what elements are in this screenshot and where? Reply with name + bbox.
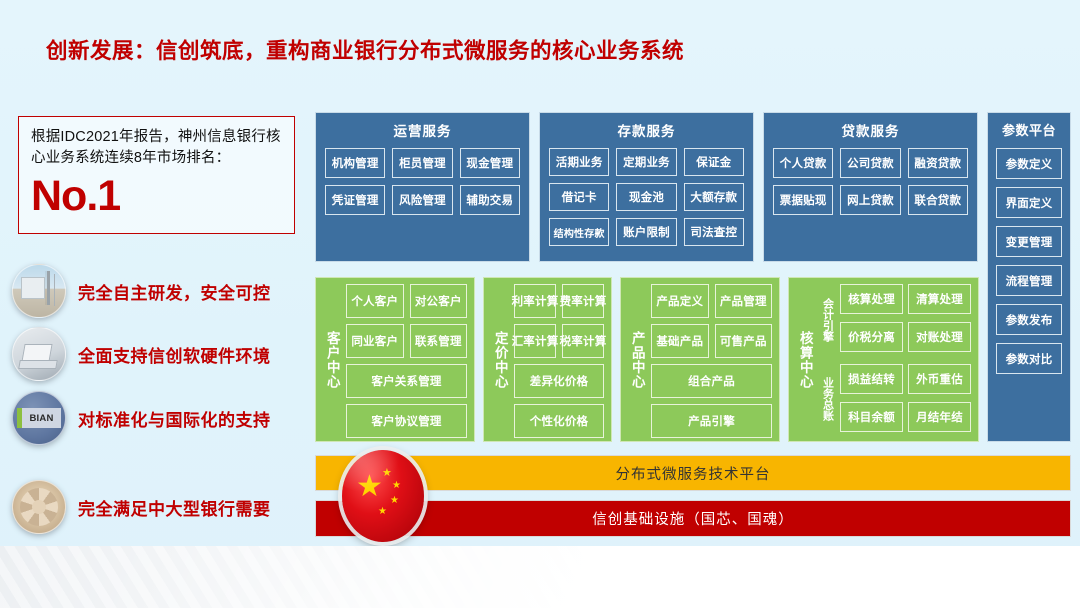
param-cell[interactable]: 参数发布 bbox=[996, 304, 1062, 335]
center-cell[interactable]: 产品定义 bbox=[651, 284, 709, 318]
accounting-groups: 会计引擎 核算处理 清算处理 价税分离 对账处理 业务总账 损益结转 外币重估 … bbox=[819, 284, 971, 435]
card-title: 存款服务 bbox=[549, 120, 744, 140]
accounting-cell[interactable]: 外币重估 bbox=[908, 364, 971, 394]
service-cell[interactable]: 大额存款 bbox=[684, 183, 744, 211]
card-title: 运营服务 bbox=[325, 120, 520, 140]
accounting-sub-label: 会计引擎 bbox=[819, 284, 835, 356]
card-cell-group: 参数定义 界面定义 变更管理 流程管理 参数发布 参数对比 bbox=[996, 148, 1062, 374]
highlight-item: 完全自主研发，安全可控 bbox=[12, 262, 302, 320]
center-cell[interactable]: 对公客户 bbox=[410, 284, 468, 318]
card-title: 贷款服务 bbox=[773, 120, 968, 140]
service-card-loans: 贷款服务 个人贷款 公司贷款 融资贷款 票据贴现 网上贷款 联合贷款 bbox=[763, 112, 978, 262]
slide-canvas: 创新发展：信创筑底，重构商业银行分布式微服务的核心业务系统 根据IDC2021年… bbox=[0, 0, 1080, 608]
service-cell[interactable]: 个人贷款 bbox=[773, 148, 833, 178]
flag-star-small: ★ bbox=[392, 480, 401, 491]
accounting-group: 会计引擎 核算处理 清算处理 价税分离 对账处理 bbox=[819, 284, 971, 356]
china-flag-emblem-icon: ★ ★ ★ ★ ★ bbox=[342, 450, 424, 542]
center-cell-wide[interactable]: 产品引擎 bbox=[651, 404, 772, 438]
service-cell[interactable]: 网上贷款 bbox=[840, 185, 900, 215]
accounting-group: 业务总账 损益结转 外币重估 科目余额 月结年结 bbox=[819, 364, 971, 436]
service-cell[interactable]: 结构性存款 bbox=[549, 218, 609, 246]
center-card-pricing: 定价中心 利率计算 费率计算 汇率计算 税率计算 差异化价格 个性化价格 bbox=[483, 277, 612, 442]
service-cell[interactable]: 票据贴现 bbox=[773, 185, 833, 215]
flag-star-small: ★ bbox=[390, 495, 399, 506]
center-label: 核算中心 bbox=[796, 284, 814, 435]
idc-ranking-text: 根据IDC2021年报告，神州信息银行核心业务系统连续8年市场排名： bbox=[31, 127, 282, 169]
center-cell-group: 个人客户 对公客户 同业客户 联系管理 客户关系管理 客户协议管理 bbox=[346, 284, 467, 435]
center-label: 定价中心 bbox=[491, 284, 509, 435]
service-cell[interactable]: 司法查控 bbox=[684, 218, 744, 246]
highlight-item: BIAN 对标准化与国际化的支持 bbox=[12, 389, 302, 447]
param-cell[interactable]: 参数定义 bbox=[996, 148, 1062, 179]
center-cell[interactable]: 汇率计算 bbox=[514, 324, 556, 358]
service-cell[interactable]: 凭证管理 bbox=[325, 185, 385, 215]
center-label: 产品中心 bbox=[628, 284, 646, 435]
service-cell[interactable]: 现金管理 bbox=[460, 148, 520, 178]
accounting-cell[interactable]: 对账处理 bbox=[908, 322, 971, 352]
center-cell[interactable]: 可售产品 bbox=[715, 324, 773, 358]
texture-shape-3 bbox=[810, 552, 1080, 598]
center-label: 客户中心 bbox=[323, 284, 341, 435]
param-cell[interactable]: 流程管理 bbox=[996, 265, 1062, 296]
center-cell-wide[interactable]: 个性化价格 bbox=[514, 404, 604, 438]
flag-star-small: ★ bbox=[378, 506, 387, 517]
accounting-cell-group: 核算处理 清算处理 价税分离 对账处理 bbox=[840, 284, 971, 356]
architecture-diagram: 运营服务 机构管理 柜员管理 现金管理 凭证管理 风险管理 辅助交易 存款服务 … bbox=[315, 112, 1071, 537]
center-card-accounting: 核算中心 会计引擎 核算处理 清算处理 价税分离 对账处理 业务总账 损益结转 … bbox=[788, 277, 979, 442]
dcits-logo: DCITS 神州信息 bbox=[966, 562, 1064, 596]
idc-rank-value: No.1 bbox=[31, 171, 282, 221]
texture-shape-1 bbox=[0, 546, 600, 589]
card-title: 参数平台 bbox=[996, 120, 1062, 139]
center-cell[interactable]: 联系管理 bbox=[410, 324, 468, 358]
center-cell-group: 利率计算 费率计算 汇率计算 税率计算 差异化价格 个性化价格 bbox=[514, 284, 604, 435]
service-card-deposits: 存款服务 活期业务 定期业务 保证金 借记卡 现金池 大额存款 结构性存款 账户… bbox=[539, 112, 754, 262]
center-cell[interactable]: 个人客户 bbox=[346, 284, 404, 318]
service-cell[interactable]: 柜员管理 bbox=[392, 148, 452, 178]
highlight-label: 完全自主研发，安全可控 bbox=[78, 279, 271, 304]
service-cell[interactable]: 定期业务 bbox=[616, 148, 676, 176]
card-cell-group: 机构管理 柜员管理 现金管理 凭证管理 风险管理 辅助交易 bbox=[325, 148, 520, 215]
dcits-logo-en: DCITS bbox=[1004, 562, 1064, 581]
service-card-operations: 运营服务 机构管理 柜员管理 现金管理 凭证管理 风险管理 辅助交易 bbox=[315, 112, 530, 262]
accounting-cell[interactable]: 核算处理 bbox=[840, 284, 903, 314]
service-cell[interactable]: 辅助交易 bbox=[460, 185, 520, 215]
teamwork-hands-icon bbox=[12, 480, 66, 534]
dcits-wordmark: DCITS 神州信息 bbox=[1004, 562, 1064, 596]
service-cell[interactable]: 现金池 bbox=[616, 183, 676, 211]
center-cell[interactable]: 税率计算 bbox=[562, 324, 604, 358]
platform-bar[interactable]: 分布式微服务技术平台 bbox=[315, 455, 1071, 491]
service-card-parameter-platform: 参数平台 参数定义 界面定义 变更管理 流程管理 参数发布 参数对比 bbox=[987, 112, 1071, 442]
highlight-label: 全面支持信创软硬件环境 bbox=[78, 342, 271, 367]
service-cell[interactable]: 机构管理 bbox=[325, 148, 385, 178]
infrastructure-bar[interactable]: 信创基础设施（国芯、国魂） bbox=[315, 500, 1071, 537]
factory-tower-icon bbox=[12, 264, 66, 318]
highlight-item: 全面支持信创软硬件环境 bbox=[12, 325, 302, 383]
param-cell[interactable]: 变更管理 bbox=[996, 226, 1062, 257]
accounting-cell[interactable]: 价税分离 bbox=[840, 322, 903, 352]
laptop-hands-icon bbox=[12, 327, 66, 381]
page-title: 创新发展：信创筑底，重构商业银行分布式微服务的核心业务系统 bbox=[46, 34, 684, 65]
param-cell[interactable]: 界面定义 bbox=[996, 187, 1062, 218]
accounting-cell-group: 损益结转 外币重估 科目余额 月结年结 bbox=[840, 364, 971, 436]
dcits-mark-icon bbox=[966, 565, 998, 593]
service-cell[interactable]: 活期业务 bbox=[549, 148, 609, 176]
center-cell[interactable]: 利率计算 bbox=[514, 284, 556, 318]
bian-logo-text: BIAN bbox=[17, 408, 61, 428]
center-cell[interactable]: 费率计算 bbox=[562, 284, 604, 318]
card-cell-group: 活期业务 定期业务 保证金 借记卡 现金池 大额存款 结构性存款 账户限制 司法… bbox=[549, 148, 744, 246]
center-card-product: 产品中心 产品定义 产品管理 基础产品 可售产品 组合产品 产品引擎 bbox=[620, 277, 780, 442]
card-cell-group: 个人贷款 公司贷款 融资贷款 票据贴现 网上贷款 联合贷款 bbox=[773, 148, 968, 215]
service-cell[interactable]: 公司贷款 bbox=[840, 148, 900, 178]
center-cell-wide[interactable]: 差异化价格 bbox=[514, 364, 604, 398]
accounting-cell[interactable]: 清算处理 bbox=[908, 284, 971, 314]
idc-ranking-box: 根据IDC2021年报告，神州信息银行核心业务系统连续8年市场排名： No.1 bbox=[18, 116, 295, 234]
service-cell[interactable]: 融资贷款 bbox=[908, 148, 968, 178]
center-cell[interactable]: 同业客户 bbox=[346, 324, 404, 358]
service-cell[interactable]: 联合贷款 bbox=[908, 185, 968, 215]
accounting-cell[interactable]: 月结年结 bbox=[908, 402, 971, 432]
center-cell-wide[interactable]: 客户协议管理 bbox=[346, 404, 467, 438]
copyright-text: Copyright Digital China Information Serv… bbox=[48, 586, 341, 598]
center-cell[interactable]: 产品管理 bbox=[715, 284, 773, 318]
footer-texture-band bbox=[0, 546, 1080, 608]
center-card-customer: 客户中心 个人客户 对公客户 同业客户 联系管理 客户关系管理 客户协议管理 bbox=[315, 277, 475, 442]
center-cell-wide[interactable]: 组合产品 bbox=[651, 364, 772, 398]
highlight-item: 完全满足中大型银行需要 bbox=[12, 478, 302, 536]
bian-logo-icon: BIAN bbox=[12, 391, 66, 445]
center-cell[interactable]: 基础产品 bbox=[651, 324, 709, 358]
highlight-label: 完全满足中大型银行需要 bbox=[78, 495, 271, 520]
accounting-sub-label: 业务总账 bbox=[819, 364, 835, 436]
center-cell-group: 产品定义 产品管理 基础产品 可售产品 组合产品 产品引擎 bbox=[651, 284, 772, 435]
dcits-logo-cn: 神州信息 bbox=[1004, 583, 1064, 596]
service-cell[interactable]: 保证金 bbox=[684, 148, 744, 176]
highlight-label: 对标准化与国际化的支持 bbox=[78, 406, 271, 431]
center-cell-wide[interactable]: 客户关系管理 bbox=[346, 364, 467, 398]
service-cell[interactable]: 账户限制 bbox=[616, 218, 676, 246]
param-cell[interactable]: 参数对比 bbox=[996, 343, 1062, 374]
texture-shape-2 bbox=[500, 546, 960, 580]
accounting-cell[interactable]: 科目余额 bbox=[840, 402, 903, 432]
service-cell[interactable]: 借记卡 bbox=[549, 183, 609, 211]
accounting-cell[interactable]: 损益结转 bbox=[840, 364, 903, 394]
service-cell[interactable]: 风险管理 bbox=[392, 185, 452, 215]
